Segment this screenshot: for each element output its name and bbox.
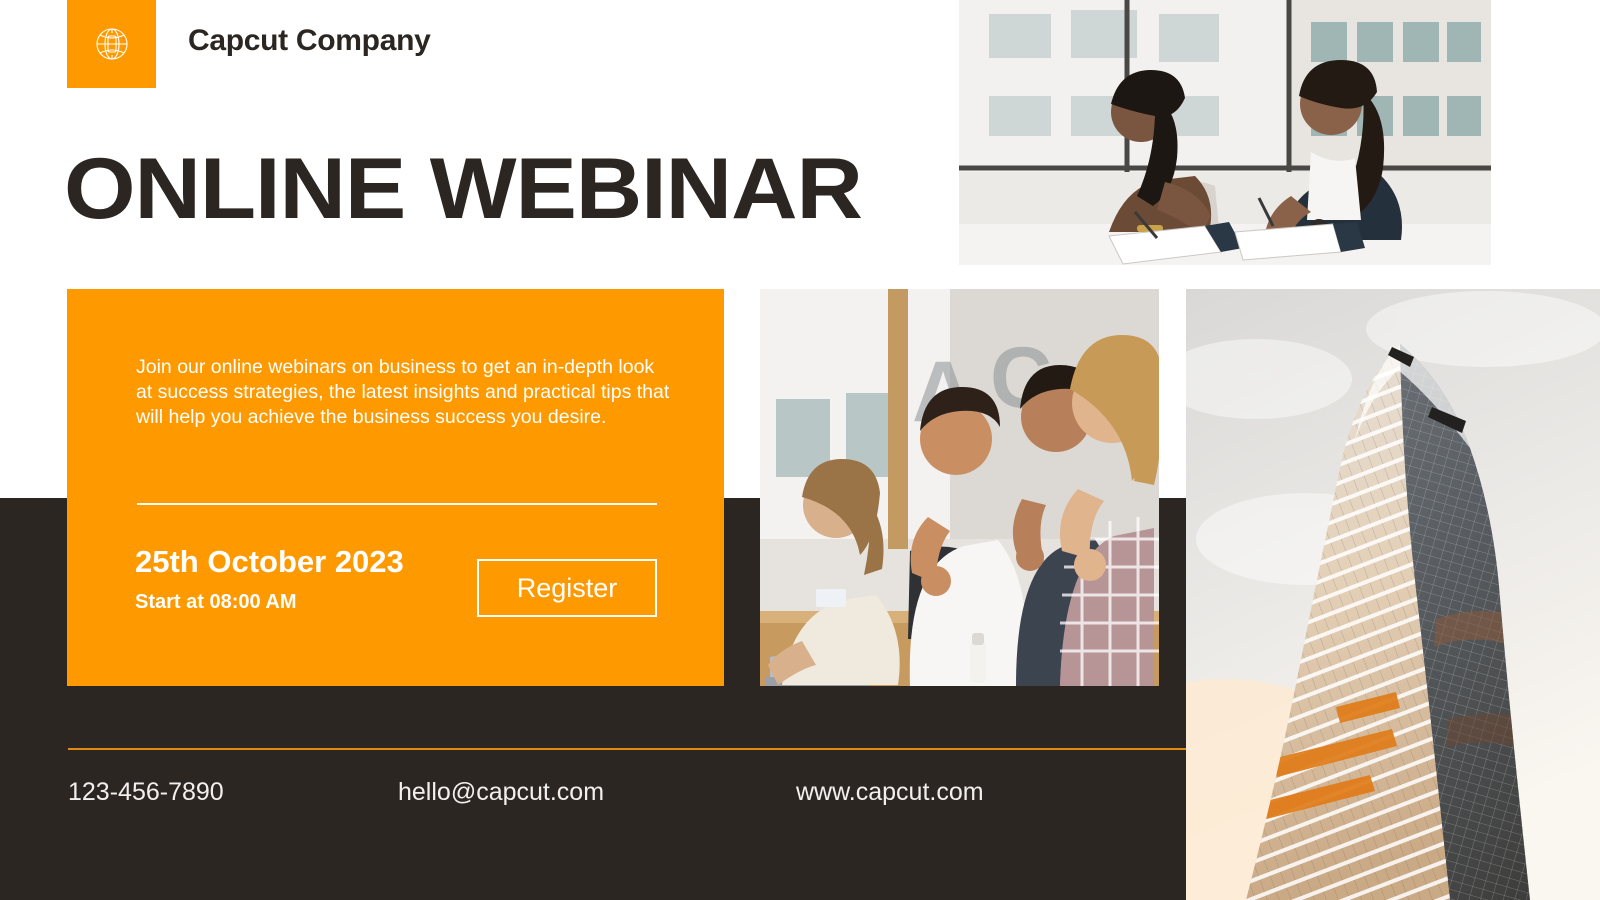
footer-divider [68, 748, 1186, 750]
page-title: ONLINE WEBINAR [64, 146, 862, 232]
event-start-time: Start at 08:00 AM [135, 591, 297, 614]
card-divider [137, 503, 657, 505]
contact-phone[interactable]: 123-456-7890 [68, 778, 224, 807]
logo-block [67, 0, 156, 88]
meeting-photo [959, 0, 1491, 265]
team-photo: AC [760, 289, 1159, 686]
event-date: 25th October 2023 [135, 544, 404, 580]
webinar-poster: Capcut Company ONLINE WEBINAR [0, 0, 1600, 900]
info-card: Join our online webinars on business to … [67, 289, 724, 686]
register-button[interactable]: Register [477, 559, 657, 617]
card-description: Join our online webinars on business to … [136, 355, 671, 430]
contact-website[interactable]: www.capcut.com [796, 778, 984, 807]
company-name: Capcut Company [188, 24, 431, 58]
contact-email[interactable]: hello@capcut.com [398, 778, 604, 807]
globe-icon [90, 22, 134, 66]
tower-photo [1186, 289, 1600, 900]
